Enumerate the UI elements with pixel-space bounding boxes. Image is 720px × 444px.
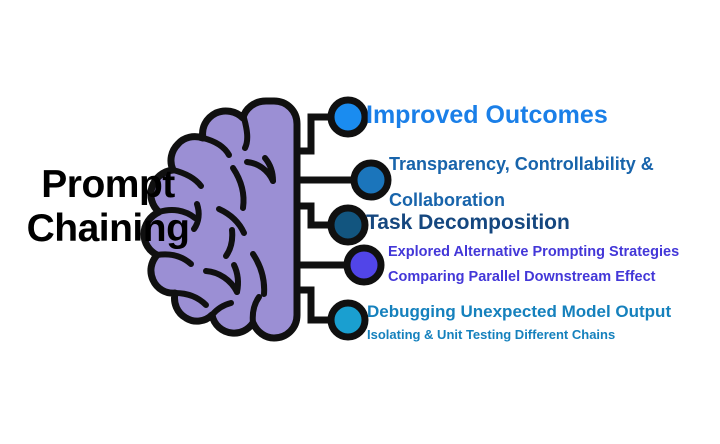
page-title: Prompt Chaining: [18, 163, 198, 251]
brain-fold-1: [244, 118, 247, 148]
label-line-1: Transparency, Controllability &: [389, 146, 689, 182]
label-debugging-unexpected-model-output: Debugging Unexpected Model Output: [367, 301, 671, 322]
label-transparency-controllability-collaboration: Transparency, Controllability & Collabor…: [389, 146, 689, 218]
node-task-decomposition[interactable]: [331, 208, 365, 242]
label-isolating-unit-testing: Isolating & Unit Testing Different Chain…: [367, 326, 615, 343]
label-line-1: Explored Alternative Prompting Strategie…: [388, 240, 679, 265]
label-improved-outcomes: Improved Outcomes: [366, 100, 608, 130]
node-improved-outcomes[interactable]: [331, 100, 365, 134]
node-explored-alternative-prompting[interactable]: [347, 248, 381, 282]
title-line-2: Chaining: [18, 207, 198, 251]
label-task-decomposition: Task Decomposition: [366, 210, 570, 236]
label-line-2: Comparing Parallel Downstream Effect: [388, 265, 679, 290]
label-explored-alternative-prompting: Explored Alternative Prompting Strategie…: [388, 240, 679, 290]
title-line-1: Prompt: [18, 163, 198, 207]
node-transparency-controllability-collaboration[interactable]: [354, 163, 388, 197]
node-debugging-unexpected-model-output[interactable]: [331, 303, 365, 337]
